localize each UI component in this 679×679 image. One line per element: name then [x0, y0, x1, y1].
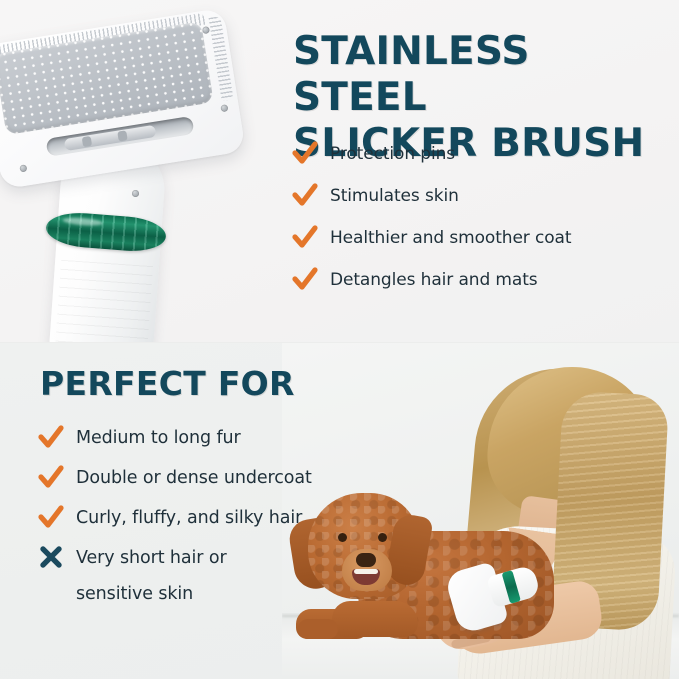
list-item-label-line-1: Very short hair or — [76, 548, 227, 568]
handle-grip-texture — [55, 260, 153, 343]
pin-fringe-right — [209, 16, 234, 101]
check-icon — [290, 138, 320, 168]
list-item-label: Protection pins — [330, 140, 455, 167]
infographic-page: STAINLESS STEEL SLICKER BRUSH Protection… — [0, 0, 679, 679]
list-item: Detangles hair and mats — [290, 266, 670, 296]
screw-icon — [202, 26, 210, 34]
list-item: Double or dense undercoat — [36, 464, 396, 494]
section-heading-perfect-for: PERFECT FOR — [40, 365, 295, 403]
x-icon — [36, 542, 66, 572]
list-item: Healthier and smoother coat — [290, 224, 670, 254]
list-item-label: Detangles hair and mats — [330, 266, 538, 293]
brush-product-illustration — [0, 8, 254, 343]
perfect-for-list: Medium to long fur Double or dense under… — [36, 424, 396, 617]
list-item-label: Healthier and smoother coat — [330, 224, 571, 251]
feature-list: Protection pins Stimulates skin Healthie… — [290, 140, 670, 308]
list-item-label: Double or dense undercoat — [76, 464, 312, 491]
list-item-label: Very short hair or sensitive skin — [76, 544, 227, 607]
list-item-label: Stimulates skin — [330, 182, 459, 209]
list-item-label: Curly, fluffy, and silky hair — [76, 504, 302, 531]
brush-head — [0, 8, 246, 190]
screw-icon — [132, 190, 139, 197]
list-item: Curly, fluffy, and silky hair — [36, 504, 396, 534]
check-icon — [36, 462, 66, 492]
check-icon — [36, 502, 66, 532]
list-item: Protection pins — [290, 140, 670, 170]
dog-paw — [298, 619, 338, 639]
top-panel: STAINLESS STEEL SLICKER BRUSH Protection… — [0, 0, 679, 343]
check-icon — [290, 264, 320, 294]
list-item-label: Medium to long fur — [76, 424, 241, 451]
knob-rib — [117, 130, 127, 141]
knob-rib — [82, 136, 92, 147]
list-item-label-line-2: sensitive skin — [76, 582, 227, 607]
list-item: Very short hair or sensitive skin — [36, 544, 396, 607]
screw-icon — [220, 104, 228, 112]
list-item: Medium to long fur — [36, 424, 396, 454]
check-icon — [290, 180, 320, 210]
brush-slider-knob — [64, 125, 157, 151]
title-line-1: STAINLESS STEEL — [293, 29, 530, 120]
list-item: Stimulates skin — [290, 182, 670, 212]
check-icon — [290, 222, 320, 252]
screw-icon — [19, 164, 27, 172]
check-icon — [36, 422, 66, 452]
